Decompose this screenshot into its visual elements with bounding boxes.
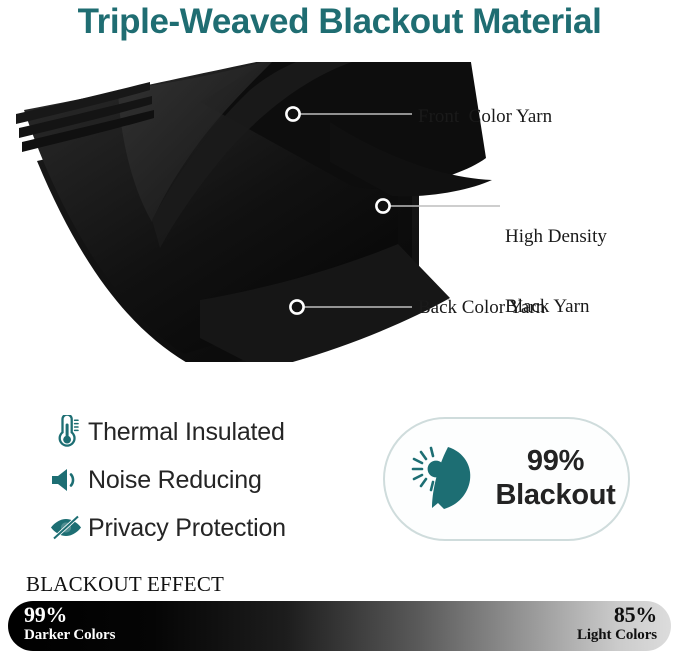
thermometer-icon [44, 415, 88, 449]
blackout-effect-left-caption: Darker Colors [24, 627, 115, 643]
feature-label-privacy-protection: Privacy Protection [88, 514, 286, 543]
blackout-effect-left-percent: 99% [24, 603, 115, 627]
feature-label-thermal-insulated: Thermal Insulated [88, 418, 285, 447]
eye-slash-icon [44, 514, 88, 542]
page-title: Triple-Weaved Blackout Material [0, 2, 679, 42]
callout-back-marker [290, 300, 303, 313]
feature-label-noise-reducing: Noise Reducing [88, 466, 262, 495]
blackout-percent: 99% [527, 445, 584, 477]
callout-front-marker [286, 107, 299, 120]
blackout-effect-left-label: 99% Darker Colors [24, 603, 115, 643]
blackout-effect-right-percent: 85% [577, 603, 657, 627]
callout-label-back-color-yarn: Back Color Yarn [418, 296, 545, 319]
callout-label-line-1: High Density [505, 225, 607, 248]
blackout-effect-heading: BLACKOUT EFFECT [26, 572, 224, 597]
blackout-effect-right-caption: Light Colors [577, 627, 657, 643]
feature-item-noise-reducing: Noise Reducing [44, 456, 374, 504]
feature-item-privacy-protection: Privacy Protection [44, 504, 374, 552]
blackout-badge: 99% Blackout [383, 417, 630, 541]
blackout-caption: Blackout [495, 479, 615, 511]
feature-list: Thermal Insulated Noise Reducing Privacy… [44, 408, 374, 552]
blackout-badge-text: 99% Blackout [489, 445, 628, 512]
callout-high-density-marker [376, 199, 389, 212]
blackout-effect-right-label: 85% Light Colors [577, 603, 657, 643]
feature-item-thermal-insulated: Thermal Insulated [44, 408, 374, 456]
callout-label-front-color-yarn: Front Color Yarn [418, 105, 552, 128]
sun-behind-curtain-icon [403, 442, 489, 516]
speaker-sound-icon [44, 466, 88, 494]
